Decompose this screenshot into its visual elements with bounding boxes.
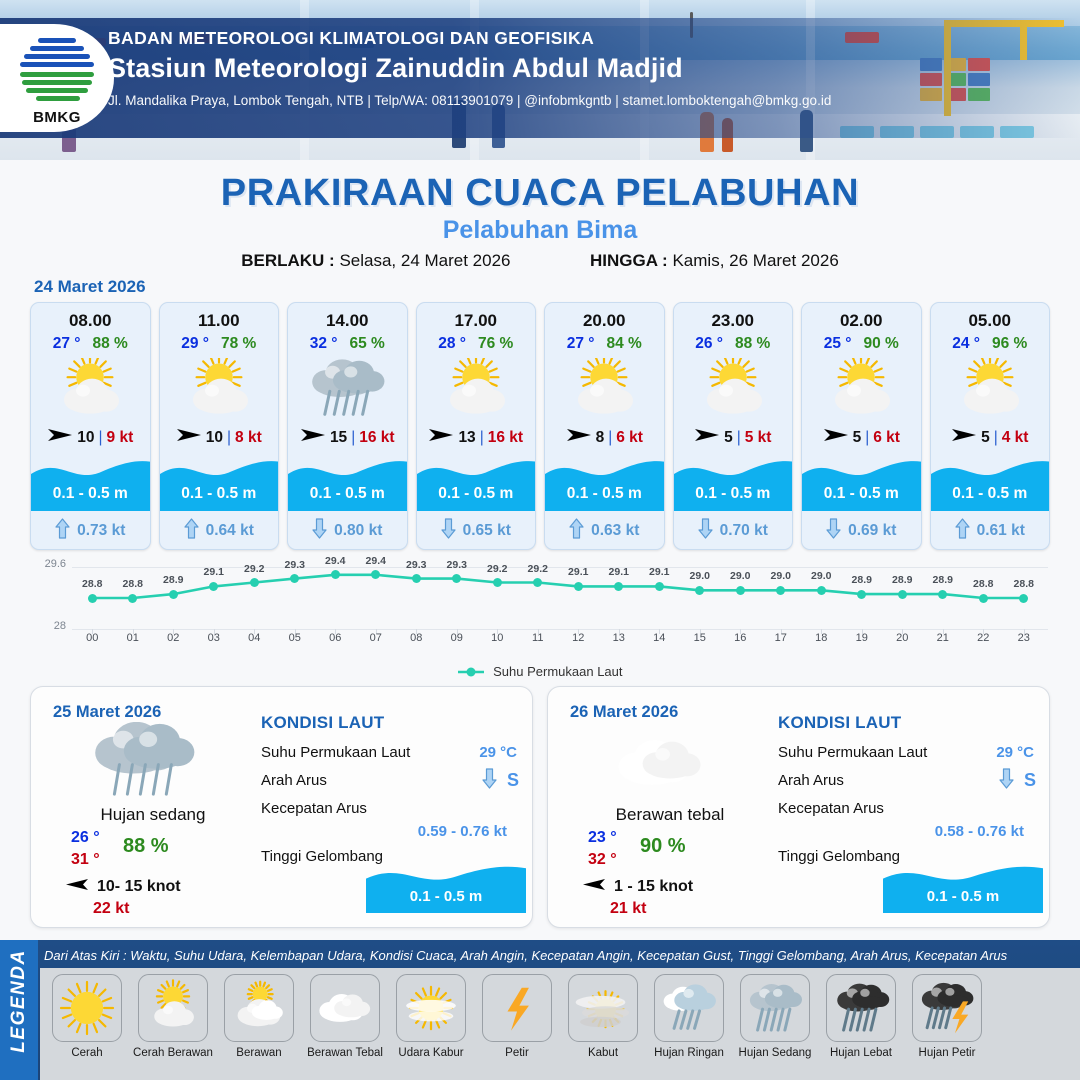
current-speed-label: Kecepatan Arus [261, 800, 367, 817]
wind-separator: | [865, 429, 869, 447]
page-subtitle: Pelabuhan Bima [0, 216, 1080, 245]
chart-data-point [776, 586, 785, 595]
wind-direction-arrow-icon [951, 427, 977, 448]
card-wind-speed: 5 [724, 429, 733, 447]
chart-point-label: 29.1 [642, 566, 676, 578]
chart-x-tick: 23 [1009, 632, 1039, 644]
panel-wind-gust: 22 kt [93, 900, 129, 918]
current-direction-down-icon [698, 518, 713, 544]
card-wave-graphic: 0.1 - 0.5 m [31, 455, 150, 511]
legend-item: Berawan [216, 974, 302, 1080]
card-temperature: 27 ° [53, 335, 81, 353]
panel-humidity: 88 % [123, 835, 169, 858]
card-temp-humidity: 27 ° 88 % [31, 335, 150, 353]
card-humidity: 90 % [863, 335, 898, 353]
current-direction-up-icon [569, 518, 584, 544]
current-speed-value-row: 0.58 - 0.76 kt [778, 819, 1038, 837]
card-temperature: 24 ° [952, 335, 980, 353]
legend-item: Berawan Tebal [302, 974, 388, 1080]
panel-humidity: 90 % [640, 835, 686, 858]
card-wind-speed: 8 [596, 429, 605, 447]
panel-weather-icon-berawan-tebal [600, 723, 720, 803]
card-wind-speed: 10 [206, 429, 223, 447]
weather-icon-cerah-berawan [674, 357, 793, 423]
chart-point-label: 29.0 [804, 570, 838, 582]
panel-temp-min: 26 ° [71, 829, 100, 847]
panel-wind: 1 - 15 knot [582, 877, 693, 897]
legend-item: Udara Kabur [388, 974, 474, 1080]
panel-wind-speed: 1 - 15 knot [614, 878, 693, 896]
chart-data-point [1019, 594, 1028, 603]
forecast-day-label: 24 Maret 2026 [34, 277, 146, 297]
weather-icon-cerah-berawan [160, 357, 279, 423]
card-temp-humidity: 29 ° 78 % [160, 335, 279, 353]
sst-row: Suhu Permukaan Laut 29 °C [261, 744, 521, 761]
card-current: 0.69 kt [802, 518, 921, 544]
chart-point-label: 28.8 [75, 578, 109, 590]
card-temperature: 29 ° [181, 335, 209, 353]
card-temp-humidity: 27 ° 84 % [545, 335, 664, 353]
panel-temp-max: 31 ° [71, 851, 100, 869]
chart-x-tick: 01 [118, 632, 148, 644]
card-current: 0.61 kt [931, 518, 1050, 544]
chart-point-label: 29.0 [764, 570, 798, 582]
chart-legend: Suhu Permukaan Laut [0, 664, 1080, 680]
card-wave-graphic: 0.1 - 0.5 m [931, 455, 1050, 511]
daily-forecast-panel: 26 Maret 2026 Berawan tebal 23 ° 32 ° 90… [547, 686, 1050, 928]
card-wind-gust: 4 kt [1002, 429, 1029, 447]
hourly-forecast-row: 08.00 27 ° 88 % 10 | 9 kt 0.1 - 0.5 m 0.… [30, 302, 1050, 550]
card-humidity: 84 % [606, 335, 641, 353]
card-wave-graphic: 0.1 - 0.5 m [417, 455, 536, 511]
logo-green-waves [20, 72, 94, 108]
chart-x-tick: 06 [320, 632, 350, 644]
chart-point-label: 28.9 [926, 574, 960, 586]
card-temperature: 25 ° [824, 335, 852, 353]
chart-x-tick: 19 [847, 632, 877, 644]
current-direction-row: Arah Arus S [261, 772, 521, 789]
chart-point-label: 28.8 [966, 578, 1000, 590]
card-wind-speed: 5 [853, 429, 862, 447]
card-humidity: 65 % [349, 335, 384, 353]
current-direction-value: S [1024, 770, 1036, 791]
bmkg-logo: BMKG [14, 34, 100, 124]
current-speed-row: Kecepatan Arus [778, 800, 1038, 817]
card-wave-height: 0.1 - 0.5 m [674, 485, 793, 503]
wind-direction-arrow-icon [300, 427, 326, 448]
legend-item: Kabut [560, 974, 646, 1080]
card-temperature: 26 ° [695, 335, 723, 353]
card-wave-height: 0.1 - 0.5 m [545, 485, 664, 503]
current-direction-down-icon [999, 768, 1014, 793]
panel-condition: Hujan sedang [53, 805, 253, 825]
current-direction-label: Arah Arus [261, 772, 327, 789]
card-wind: 5 | 6 kt [802, 427, 921, 448]
panel-weather-icon-hujan-sedang [83, 723, 203, 803]
current-speed-label: Kecepatan Arus [778, 800, 884, 817]
weather-icon-cerah-berawan [31, 357, 150, 423]
card-humidity: 78 % [221, 335, 256, 353]
card-humidity: 96 % [992, 335, 1027, 353]
chart-data-point [817, 586, 826, 595]
wind-direction-arrow-icon [582, 877, 606, 897]
card-time: 17.00 [417, 311, 536, 331]
sea-conditions-title: KONDISI LAUT [778, 713, 1038, 733]
chart-point-label: 29.1 [197, 566, 231, 578]
hourly-card: 05.00 24 ° 96 % 5 | 4 kt 0.1 - 0.5 m 0.6… [930, 302, 1051, 550]
panel-sea-conditions: KONDISI LAUT Suhu Permukaan Laut 29 °C A… [261, 713, 521, 865]
card-wave-graphic: 0.1 - 0.5 m [545, 455, 664, 511]
chart-x-tick: 09 [442, 632, 472, 644]
legend-item: Cerah Berawan [130, 974, 216, 1080]
card-wind: 10 | 8 kt [160, 427, 279, 448]
wave-height-label: Tinggi Gelombang [778, 848, 900, 865]
card-temp-humidity: 26 ° 88 % [674, 335, 793, 353]
legend-item-label: Cerah Berawan [130, 1047, 216, 1059]
current-speed-row: Kecepatan Arus [261, 800, 521, 817]
chart-point-label: 29.1 [561, 566, 595, 578]
weather-icon-cerah-berawan [545, 357, 664, 423]
panel-wave-graphic: 0.1 - 0.5 m [883, 861, 1043, 913]
wind-separator: | [608, 429, 612, 447]
wind-direction-arrow-icon [694, 427, 720, 448]
panel-wave-height: 0.1 - 0.5 m [883, 888, 1043, 905]
card-temp-humidity: 25 ° 90 % [802, 335, 921, 353]
wind-separator: | [480, 429, 484, 447]
legend-icon-hujan-ringan [654, 974, 724, 1042]
card-current-speed: 0.70 kt [720, 522, 768, 540]
card-wind-speed: 13 [458, 429, 475, 447]
card-time: 23.00 [674, 311, 793, 331]
card-wave-height: 0.1 - 0.5 m [31, 485, 150, 503]
chart-x-tick: 07 [361, 632, 391, 644]
current-direction-up-icon [184, 518, 199, 544]
card-time: 11.00 [160, 311, 279, 331]
chart-data-point [736, 586, 745, 595]
header-station-name: Stasiun Meteorologi Zainuddin Abdul Madj… [108, 53, 831, 84]
hourly-card: 20.00 27 ° 84 % 8 | 6 kt 0.1 - 0.5 m 0.6… [544, 302, 665, 550]
legend-side-title: LEGENDA [8, 945, 30, 1057]
sea-conditions-title: KONDISI LAUT [261, 713, 521, 733]
logo-blue-arcs [20, 34, 94, 70]
card-wave-height: 0.1 - 0.5 m [288, 485, 407, 503]
card-current: 0.64 kt [160, 518, 279, 544]
panel-date: 26 Maret 2026 [570, 703, 678, 722]
card-current-speed: 0.64 kt [206, 522, 254, 540]
legend-side-bar: LEGENDA [0, 940, 38, 1080]
chart-x-tick: 03 [199, 632, 229, 644]
chart-x-tick: 21 [928, 632, 958, 644]
sst-value: 29 °C [479, 744, 517, 761]
chart-x-tick: 04 [239, 632, 269, 644]
chart-data-point [857, 590, 866, 599]
legend-icon-udara-kabur [396, 974, 466, 1042]
chart-data-point [493, 578, 502, 587]
chart-data-point [412, 574, 421, 583]
header-organization: BADAN METEOROLOGI KLIMATOLOGI DAN GEOFIS… [108, 28, 831, 49]
card-humidity: 76 % [478, 335, 513, 353]
panel-sea-conditions: KONDISI LAUT Suhu Permukaan Laut 29 °C A… [778, 713, 1038, 865]
valid-until-value: Kamis, 26 Maret 2026 [672, 251, 838, 270]
card-wind-speed: 5 [981, 429, 990, 447]
card-temperature: 27 ° [567, 335, 595, 353]
card-time: 08.00 [31, 311, 150, 331]
legend-icon-berawan-tebal [310, 974, 380, 1042]
legend-icon-hujan-sedang [740, 974, 810, 1042]
current-direction-down-icon [312, 518, 327, 544]
chart-data-point [169, 590, 178, 599]
chart-x-tick: 13 [604, 632, 634, 644]
card-wind: 5 | 4 kt [931, 427, 1050, 448]
chart-legend-marker [458, 665, 484, 680]
card-wind-gust: 6 kt [616, 429, 643, 447]
daily-forecast-panels: 25 Maret 2026 Hujan sedang 26 ° 31 ° 88 … [30, 686, 1050, 928]
chart-x-tick: 15 [685, 632, 715, 644]
sea-temperature-chart: 29.6 28 28.828.828.929.129.229.329.429.4… [18, 558, 1062, 670]
current-direction-value-group: S [482, 768, 519, 793]
card-wind-gust: 16 kt [359, 429, 394, 447]
legend-item: Hujan Lebat [818, 974, 904, 1080]
card-current: 0.65 kt [417, 518, 536, 544]
legend-icon-kabut [568, 974, 638, 1042]
card-current-speed: 0.80 kt [334, 522, 382, 540]
card-current-speed: 0.63 kt [591, 522, 639, 540]
wind-separator: | [994, 429, 998, 447]
legend-item-label: Hujan Sedang [732, 1047, 818, 1059]
chart-data-point [574, 582, 583, 591]
chart-data-point [979, 594, 988, 603]
chart-x-tick: 20 [887, 632, 917, 644]
chart-point-label: 29.4 [359, 555, 393, 567]
wave-height-label: Tinggi Gelombang [261, 848, 383, 865]
panel-wind: 10- 15 knot [65, 877, 181, 897]
card-wave-height: 0.1 - 0.5 m [417, 485, 536, 503]
legend-icon-cerah [52, 974, 122, 1042]
panel-date: 25 Maret 2026 [53, 703, 161, 722]
wind-direction-arrow-icon [566, 427, 592, 448]
wind-separator: | [737, 429, 741, 447]
card-wind: 8 | 6 kt [545, 427, 664, 448]
chart-x-tick: 08 [401, 632, 431, 644]
chart-data-point [88, 594, 97, 603]
card-current-speed: 0.73 kt [77, 522, 125, 540]
wind-separator: | [227, 429, 231, 447]
weather-icon-cerah-berawan [931, 357, 1050, 423]
chart-x-tick: 10 [482, 632, 512, 644]
sst-value: 29 °C [996, 744, 1034, 761]
wind-direction-arrow-icon [428, 427, 454, 448]
current-direction-up-icon [55, 518, 70, 544]
validity-row: BERLAKU : Selasa, 24 Maret 2026 HINGGA :… [0, 251, 1080, 271]
chart-data-point [898, 590, 907, 599]
card-time: 20.00 [545, 311, 664, 331]
panel-wave-graphic: 0.1 - 0.5 m [366, 861, 526, 913]
chart-x-tick: 22 [968, 632, 998, 644]
card-current: 0.80 kt [288, 518, 407, 544]
page-title: PRAKIRAAN CUACA PELABUHAN [0, 172, 1080, 215]
chart-x-tick: 11 [523, 632, 553, 644]
chart-point-label: 29.0 [683, 570, 717, 582]
chart-point-label: 29.2 [237, 563, 271, 575]
hourly-card: 23.00 26 ° 88 % 5 | 5 kt 0.1 - 0.5 m 0.7… [673, 302, 794, 550]
current-direction-up-icon [955, 518, 970, 544]
card-current-speed: 0.65 kt [463, 522, 511, 540]
legend-item: Hujan Ringan [646, 974, 732, 1080]
chart-data-point [655, 582, 664, 591]
legend-item: Cerah [44, 974, 130, 1080]
current-direction-value: S [507, 770, 519, 791]
wind-direction-arrow-icon [47, 427, 73, 448]
legend-section: LEGENDA Dari Atas Kiri : Waktu, Suhu Uda… [0, 940, 1080, 1080]
card-wind: 15 | 16 kt [288, 427, 407, 448]
legend-item-label: Petir [474, 1047, 560, 1059]
legend-item: Hujan Sedang [732, 974, 818, 1080]
panel-condition: Berawan tebal [570, 805, 770, 825]
legend-icon-petir [482, 974, 552, 1042]
current-speed-value: 0.59 - 0.76 kt [418, 823, 507, 840]
hourly-card: 08.00 27 ° 88 % 10 | 9 kt 0.1 - 0.5 m 0.… [30, 302, 151, 550]
wind-direction-arrow-icon [65, 877, 89, 897]
sst-row: Suhu Permukaan Laut 29 °C [778, 744, 1038, 761]
chart-point-label: 29.4 [318, 555, 352, 567]
card-time: 14.00 [288, 311, 407, 331]
legend-item: Hujan Petir [904, 974, 990, 1080]
card-wave-graphic: 0.1 - 0.5 m [802, 455, 921, 511]
current-direction-down-icon [441, 518, 456, 544]
sst-label: Suhu Permukaan Laut [778, 744, 927, 761]
header-text-block: BADAN METEOROLOGI KLIMATOLOGI DAN GEOFIS… [108, 28, 831, 108]
card-wave-height: 0.1 - 0.5 m [931, 485, 1050, 503]
chart-point-label: 29.2 [480, 563, 514, 575]
chart-point-label: 29.2 [521, 563, 555, 575]
current-direction-label: Arah Arus [778, 772, 844, 789]
chart-x-tick: 16 [725, 632, 755, 644]
chart-point-label: 28.8 [1007, 578, 1041, 590]
chart-x-tick: 12 [563, 632, 593, 644]
chart-plot-area: 28.828.828.929.129.229.329.429.429.329.3… [72, 562, 1048, 628]
chart-point-label: 28.9 [845, 574, 879, 586]
panel-wind-gust: 21 kt [610, 900, 646, 918]
card-wave-graphic: 0.1 - 0.5 m [674, 455, 793, 511]
panel-wind-speed: 10- 15 knot [97, 878, 181, 896]
card-temperature: 28 ° [438, 335, 466, 353]
legend-note: Dari Atas Kiri : Waktu, Suhu Udara, Kele… [44, 948, 1007, 963]
legend-item-label: Berawan [216, 1047, 302, 1059]
chart-point-label: 28.9 [885, 574, 919, 586]
chart-y-tick-top: 29.6 [22, 558, 66, 570]
card-current: 0.63 kt [545, 518, 664, 544]
card-wave-graphic: 0.1 - 0.5 m [288, 455, 407, 511]
panel-wave-height: 0.1 - 0.5 m [366, 888, 526, 905]
card-wave-graphic: 0.1 - 0.5 m [160, 455, 279, 511]
legend-item: Petir [474, 974, 560, 1080]
logo-text: BMKG [14, 109, 100, 126]
header-address: Jl. Mandalika Praya, Lombok Tengah, NTB … [108, 93, 831, 108]
current-speed-value: 0.58 - 0.76 kt [935, 823, 1024, 840]
legend-icon-cerah-berawan [138, 974, 208, 1042]
card-wind: 13 | 16 kt [417, 427, 536, 448]
wind-direction-arrow-icon [823, 427, 849, 448]
hourly-card: 14.00 32 ° 65 % 15 | 16 kt 0.1 - 0.5 m [287, 302, 408, 550]
weather-icon-cerah-berawan [802, 357, 921, 423]
chart-x-tick: 05 [280, 632, 310, 644]
current-direction-down-icon [482, 768, 497, 793]
page-header: BMKG BADAN METEOROLOGI KLIMATOLOGI DAN G… [0, 0, 1080, 160]
card-time: 02.00 [802, 311, 921, 331]
legend-item-label: Kabut [560, 1047, 646, 1059]
hourly-card: 02.00 25 ° 90 % 5 | 6 kt 0.1 - 0.5 m 0.6… [801, 302, 922, 550]
card-current: 0.70 kt [674, 518, 793, 544]
card-wave-height: 0.1 - 0.5 m [160, 485, 279, 503]
panel-temp-max: 32 ° [588, 851, 617, 869]
wind-direction-arrow-icon [176, 427, 202, 448]
card-wind: 5 | 5 kt [674, 427, 793, 448]
card-current: 0.73 kt [31, 518, 150, 544]
chart-point-label: 29.3 [399, 559, 433, 571]
card-temp-humidity: 24 ° 96 % [931, 335, 1050, 353]
chart-point-label: 29.1 [602, 566, 636, 578]
legend-item-label: Udara Kabur [388, 1047, 474, 1059]
card-time: 05.00 [931, 311, 1050, 331]
chart-data-point [938, 590, 947, 599]
card-wind-gust: 5 kt [745, 429, 772, 447]
weather-icon-hujan-sedang [288, 357, 407, 423]
current-speed-value-row: 0.59 - 0.76 kt [261, 819, 521, 837]
legend-item-label: Hujan Petir [904, 1047, 990, 1059]
chart-data-point [128, 594, 137, 603]
valid-from-label: BERLAKU : [241, 251, 335, 270]
legend-icon-hujan-lebat [826, 974, 896, 1042]
wind-separator: | [99, 429, 103, 447]
card-temperature: 32 ° [310, 335, 338, 353]
chart-data-point [331, 570, 340, 579]
hourly-card: 17.00 28 ° 76 % 13 | 16 kt 0.1 - 0.5 m 0… [416, 302, 537, 550]
card-temp-humidity: 32 ° 65 % [288, 335, 407, 353]
legend-item-label: Berawan Tebal [302, 1047, 388, 1059]
chart-x-tick: 17 [766, 632, 796, 644]
sst-label: Suhu Permukaan Laut [261, 744, 410, 761]
chart-point-label: 29.3 [440, 559, 474, 571]
card-current-speed: 0.61 kt [977, 522, 1025, 540]
card-humidity: 88 % [735, 335, 770, 353]
chart-legend-label: Suhu Permukaan Laut [493, 664, 622, 679]
card-wind-gust: 16 kt [488, 429, 523, 447]
chart-point-label: 28.9 [156, 574, 190, 586]
hourly-card: 11.00 29 ° 78 % 10 | 8 kt 0.1 - 0.5 m 0.… [159, 302, 280, 550]
panel-temp-min: 23 ° [588, 829, 617, 847]
chart-point-label: 28.8 [116, 578, 150, 590]
chart-x-tick: 02 [158, 632, 188, 644]
valid-from-value: Selasa, 24 Maret 2026 [339, 251, 510, 270]
card-wind-speed: 15 [330, 429, 347, 447]
legend-icon-berawan [224, 974, 294, 1042]
card-wind: 10 | 9 kt [31, 427, 150, 448]
current-direction-down-icon [826, 518, 841, 544]
chart-point-label: 29.0 [723, 570, 757, 582]
card-wind-speed: 10 [77, 429, 94, 447]
current-direction-row: Arah Arus S [778, 772, 1038, 789]
card-temp-humidity: 28 ° 76 % [417, 335, 536, 353]
chart-y-tick-bottom: 28 [22, 620, 66, 632]
card-wave-height: 0.1 - 0.5 m [802, 485, 921, 503]
card-humidity: 88 % [92, 335, 127, 353]
card-wind-gust: 6 kt [873, 429, 900, 447]
chart-point-label: 29.3 [278, 559, 312, 571]
chart-x-tick: 00 [77, 632, 107, 644]
chart-data-point [250, 578, 259, 587]
chart-x-tick: 18 [806, 632, 836, 644]
legend-item-label: Cerah [44, 1047, 130, 1059]
